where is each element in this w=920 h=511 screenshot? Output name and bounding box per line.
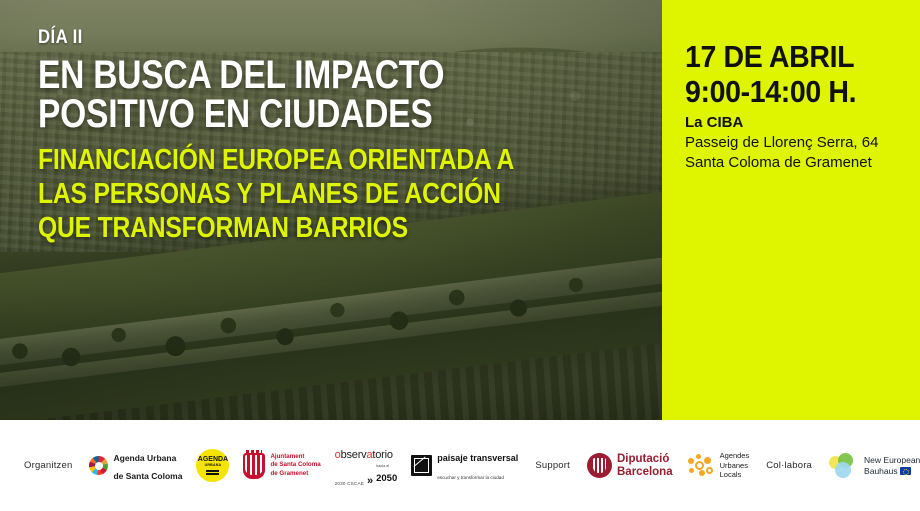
diputacio-line-2: Barcelona xyxy=(617,466,673,478)
subtitle-line-2: LAS PERSONAS Y PLANES DE ACCIÓN xyxy=(38,178,548,212)
observatorio-year: 2050 xyxy=(376,473,397,484)
logo-agenda-urbana-text: Agenda Urbana de Santa Coloma xyxy=(113,448,182,484)
eu-flag-icon xyxy=(900,467,911,475)
event-date: 17 DE ABRIL xyxy=(685,40,892,75)
observatorio-arrow-icon: » xyxy=(367,477,373,486)
agenda-badge-line-1: AGENDA xyxy=(198,456,228,463)
logo-diputacio-barcelona: Diputació Barcelona xyxy=(587,453,673,478)
event-info-panel: 17 DE ABRIL 9:00-14:00 H. La CIBA Passei… xyxy=(662,0,920,420)
agenda-urbana-line-1: Agenda Urbana xyxy=(113,453,176,463)
agendes-line-2: Urbanes xyxy=(720,461,748,470)
paisaje-transversal-mark-icon xyxy=(411,455,432,476)
observatorio-subline: 2030 CSCAE » hacia el 2050 xyxy=(335,464,398,486)
event-info-content: 17 DE ABRIL 9:00-14:00 H. La CIBA Passei… xyxy=(685,40,910,173)
kicker-day-label: DÍA II xyxy=(38,28,566,47)
logo-agenda-urbana-badge: AGENDA URBANA xyxy=(196,449,229,482)
subtitle-line-1: FINANCIACIÓN EUROPEA ORIENTADA A xyxy=(38,144,548,178)
ajuntament-line-3: de Gramenet xyxy=(270,470,308,477)
ajuntament-line-1: Ajuntament xyxy=(270,453,304,460)
agendes-line-1: Agendes xyxy=(720,451,750,460)
bauhaus-line-1: New European xyxy=(864,455,920,465)
observatorio-cscae: 2030 CSCAE xyxy=(335,481,364,486)
footer-logo-strip: Organitzen Agenda Urbana de Santa Coloma… xyxy=(0,420,920,511)
event-address-line-2: Santa Coloma de Gramenet xyxy=(685,153,910,173)
collaborate-label: Col·labora xyxy=(766,460,812,471)
logo-new-european-bauhaus: New European Bauhaus xyxy=(829,453,920,479)
bauhaus-line-2: Bauhaus xyxy=(864,466,898,476)
event-poster: DÍA II EN BUSCA DEL IMPACTO POSITIVO EN … xyxy=(0,0,920,511)
agenda-badge-circle: AGENDA URBANA xyxy=(196,449,229,482)
observatorio-year-block: hacia el 2050 xyxy=(376,464,397,486)
observatorio-wordmark: observatorio xyxy=(335,449,393,461)
agendes-text: Agendes Urbanes Locals xyxy=(720,451,750,480)
organizers-label: Organitzen xyxy=(24,460,72,471)
observatorio-hacia: hacia el xyxy=(376,464,397,468)
logo-ajuntament-santa-coloma: Ajuntament de Santa Coloma de Gramenet xyxy=(243,453,320,479)
agenda-badge-line-2: URBANA xyxy=(205,464,222,468)
paisaje-line-1: paisaje transversal xyxy=(437,453,518,463)
diputacio-crest-icon xyxy=(587,453,612,478)
event-time: 9:00-14:00 H. xyxy=(685,75,892,110)
diputacio-line-1: Diputació xyxy=(617,453,669,465)
subtitle-block: FINANCIACIÓN EUROPEA ORIENTADA A LAS PER… xyxy=(38,144,638,246)
event-venue: La CIBA xyxy=(685,114,910,133)
title-line-1: EN BUSCA DEL IMPACTO xyxy=(38,56,542,95)
observatorio-text: observatorio 2030 CSCAE » hacia el 2050 xyxy=(335,445,398,486)
logo-paisaje-transversal: paisaje transversal escuchar y transform… xyxy=(411,448,518,484)
ajuntament-line-2: de Santa Coloma xyxy=(270,461,320,468)
bauhaus-text: New European Bauhaus xyxy=(864,455,920,476)
logo-agenda-urbana-santa-coloma: Agenda Urbana de Santa Coloma xyxy=(89,448,182,484)
agendes-line-3: Locals xyxy=(720,470,742,479)
paisaje-transversal-text: paisaje transversal escuchar y transform… xyxy=(437,448,518,484)
agendes-dots-icon xyxy=(687,454,715,478)
ajuntament-text: Ajuntament de Santa Coloma de Gramenet xyxy=(270,453,320,478)
logo-agendes-urbanes-locals: Agendes Urbanes Locals xyxy=(687,451,750,480)
subtitle-line-3: QUE TRANSFORMAN BARRIOS xyxy=(38,212,548,246)
title-line-2: POSITIVO EN CIUDADES xyxy=(38,95,542,134)
paisaje-line-2: escuchar y transformar la ciudad xyxy=(437,475,504,480)
sdg-wheel-icon xyxy=(89,456,108,475)
agenda-urbana-line-2: de Santa Coloma xyxy=(113,471,182,481)
headline-block: DÍA II EN BUSCA DEL IMPACTO POSITIVO EN … xyxy=(38,28,638,246)
support-label: Support xyxy=(535,460,570,471)
event-address-line-1: Passeig de Llorenç Serra, 64 xyxy=(685,133,910,153)
ajuntament-crest-icon xyxy=(243,453,265,479)
logo-observatorio-2030: observatorio 2030 CSCAE » hacia el 2050 xyxy=(335,445,398,486)
diputacio-text: Diputació Barcelona xyxy=(617,453,673,478)
observatorio-part-torio: torio xyxy=(372,449,392,461)
observatorio-part-bserv: bserv xyxy=(341,449,367,461)
agenda-badge-bars-icon xyxy=(206,469,219,475)
footer-row: Organitzen Agenda Urbana de Santa Coloma… xyxy=(0,445,920,486)
bauhaus-circles-icon xyxy=(829,453,859,479)
